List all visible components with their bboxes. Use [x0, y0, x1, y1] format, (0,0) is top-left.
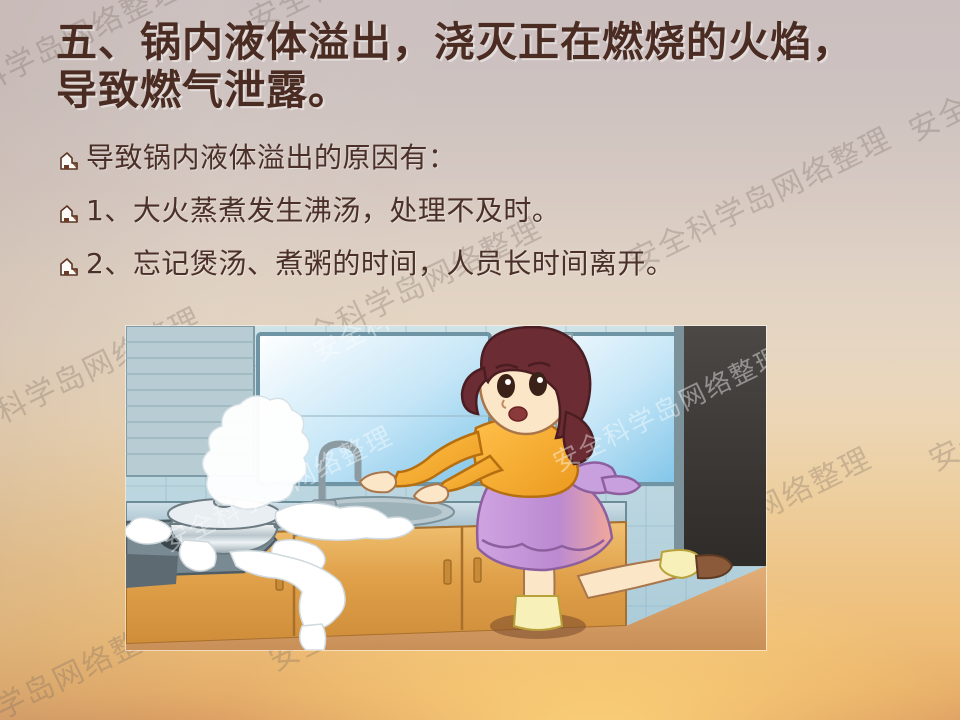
- house-bullet-icon: [58, 255, 80, 277]
- woman-boot-front: [514, 596, 562, 630]
- eye-highlight: [537, 377, 543, 383]
- woman-eye-right: [529, 372, 547, 396]
- door-edge: [674, 326, 684, 566]
- house-bullet-icon: [58, 202, 80, 224]
- list-item-label: 导致锅内液体溢出的原因有：: [86, 140, 457, 177]
- list-item-label: 1、大火蒸煮发生沸汤，处理不及时。: [86, 193, 560, 230]
- woman-mouth: [509, 407, 527, 421]
- page-title-line-1: 五、锅内液体溢出，浇灭正在燃烧的火焰，: [56, 18, 916, 66]
- woman-eye-left: [497, 374, 515, 398]
- doorway-dark: [682, 326, 766, 566]
- woman-boot-back: [660, 550, 701, 578]
- eye-highlight: [505, 379, 511, 385]
- list-item: 1、大火蒸煮发生沸汤，处理不及时。: [58, 193, 938, 230]
- page-title: 五、锅内液体溢出，浇灭正在燃烧的火焰， 导致燃气泄露。: [56, 18, 916, 115]
- kitchen-illustration: 安全科学岛网络整理 安全科学岛网络整理 安全科学岛网络整理: [126, 326, 766, 650]
- page-title-line-2: 导致燃气泄露。: [56, 66, 916, 114]
- list-item: 导致锅内液体溢出的原因有：: [58, 140, 938, 177]
- list-item-label: 2、忘记煲汤、煮粥的时间，人员长时间离开。: [86, 246, 674, 283]
- kitchen-illustration-svg: [126, 326, 766, 650]
- slide-canvas: 安全科学岛网络整理 安全科学岛网络整理 安全科学岛网络整理 安全科学岛网络整理 …: [0, 0, 960, 720]
- house-bullet-icon: [58, 149, 80, 171]
- bullet-list: 导致锅内液体溢出的原因有： 1、大火蒸煮发生沸汤，处理不及时。 2、忘记: [58, 140, 938, 299]
- list-item: 2、忘记煲汤、煮粥的时间，人员长时间离开。: [58, 246, 938, 283]
- stove-body: [126, 554, 178, 588]
